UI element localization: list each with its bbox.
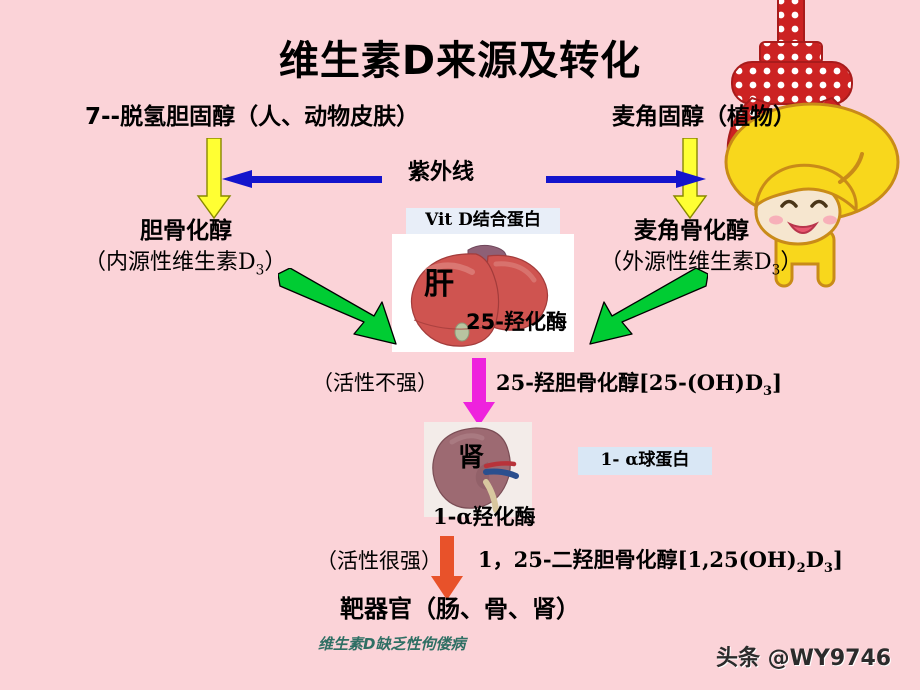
- label-liver-char: 肝: [424, 268, 454, 303]
- label-cholecalciferol-sub: （内源性维生素D3）: [84, 250, 286, 279]
- label-high-activity: （活性很强）: [316, 549, 442, 573]
- ergo-sub-close: ）: [780, 250, 802, 275]
- final-sub-2: 2: [797, 561, 806, 576]
- blue-arrow-left: [222, 168, 382, 190]
- final-text-b: D: [806, 547, 824, 572]
- liver-illustration: [392, 234, 574, 352]
- green-arrow-right-to-liver: [578, 268, 708, 350]
- label-kidney-char: 肾: [458, 444, 484, 474]
- label-ultraviolet: 紫外线: [408, 160, 474, 185]
- final-sub-3: 3: [824, 561, 833, 576]
- label-low-activity: （活性不强）: [312, 371, 438, 395]
- chole-sub-text: （内源性维生素D: [84, 250, 256, 275]
- liver-image-card: [392, 234, 574, 352]
- alpha-globulin-box: 1- α球蛋白: [578, 447, 712, 475]
- label-ergosterol: 麦角固醇（植物）: [612, 104, 796, 130]
- slide-canvas: 维生素D来源及转化 7--脱氢胆固醇（人、动物皮肤） 麦角固醇（植物） 紫外线 …: [0, 0, 920, 690]
- blue-arrow-right: [546, 168, 706, 190]
- label-target-organs: 靶器官（肠、骨、肾）: [0, 596, 920, 624]
- magenta-arrow-liver-to-kidney: [462, 358, 496, 428]
- label-7-dehydrocholesterol: 7--脱氢胆固醇（人、动物皮肤）: [85, 104, 419, 130]
- green-arrow-left-to-liver: [278, 268, 403, 350]
- label-1-25-dihydroxy-d3: 1，25-二羟胆骨化醇[1,25(OH)2D3]: [478, 548, 843, 577]
- label-25-hydroxylase: 25-羟化酶: [466, 310, 567, 334]
- ergo-sub-digit: 3: [772, 262, 781, 278]
- vitd-binding-protein-box: Vit D结合蛋白: [406, 208, 560, 234]
- final-text-a: 1，25-二羟胆骨化醇[1,25(OH): [478, 547, 797, 572]
- label-25-oh-d3: 25-羟胆骨化醇[25-(OH)D3]: [496, 371, 782, 400]
- ohd3-tail: ]: [772, 370, 782, 395]
- label-ergocalciferol: 麦角骨化醇: [634, 218, 749, 244]
- page-title: 维生素D来源及转化: [0, 38, 920, 84]
- watermark: 头条 @WY9746: [716, 646, 891, 671]
- ohd3-sub: 3: [763, 384, 772, 399]
- footer-note: 维生素D缺乏性佝偻病: [318, 636, 465, 653]
- chole-sub-digit: 3: [256, 262, 265, 278]
- ohd3-text: 25-羟胆骨化醇[25-(OH)D: [496, 370, 763, 395]
- label-cholecalciferol: 胆骨化醇: [140, 218, 232, 244]
- final-tail: ]: [833, 547, 843, 572]
- label-1-alpha-hydroxylase: 1-α羟化酶: [433, 505, 536, 529]
